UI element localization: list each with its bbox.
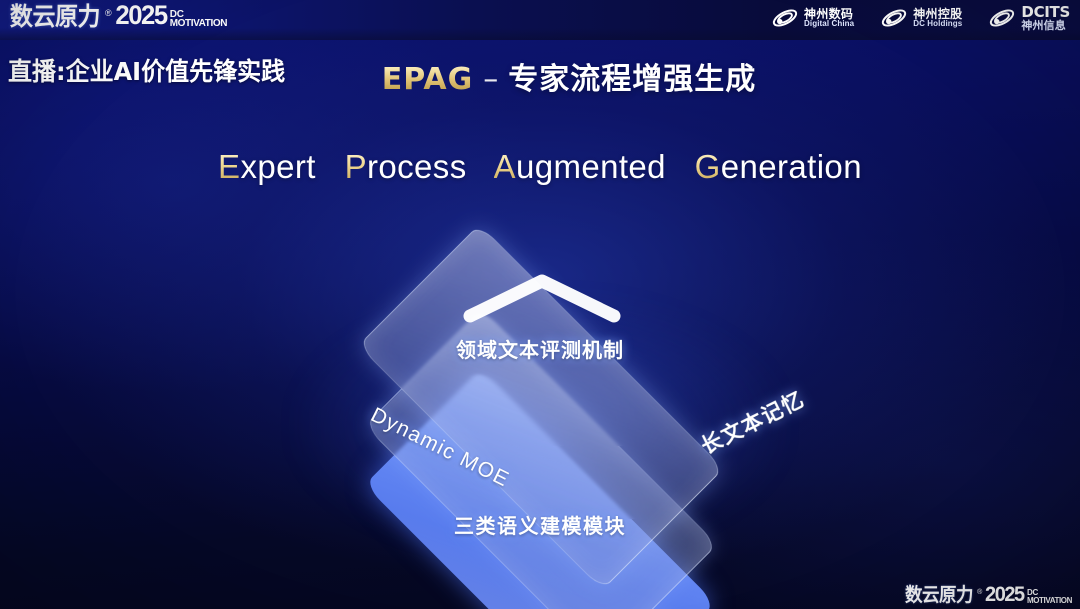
- word-remainder: xpert: [240, 148, 315, 185]
- watermark-year: 2025: [985, 584, 1024, 605]
- brand-name-cn: 数云原力: [10, 4, 100, 29]
- partner-logo-digital-china: 神州数码 Digital China: [771, 5, 854, 31]
- word-remainder: eneration: [721, 148, 862, 185]
- word-process: Process: [345, 148, 467, 185]
- swirl-icon: [771, 5, 799, 31]
- brand-logo: 数云原力 ® 2025 DC MOTIVATION: [6, 2, 227, 29]
- watermark-name-cn: 数云原力: [905, 586, 973, 605]
- brand-dc-motivation: DC MOTIVATION: [170, 10, 227, 28]
- title-chinese: 专家流程增强生成: [508, 62, 756, 97]
- live-stream-label: 直播:企业AI价值先锋实践: [8, 52, 285, 88]
- watermark-logo: 数云原力 ® 2025 DC MOTIVATION: [902, 584, 1072, 605]
- word-augmented: Augmented: [494, 148, 666, 185]
- word-remainder: rocess: [367, 148, 467, 185]
- watermark-dc-motivation: DC MOTIVATION: [1027, 589, 1072, 604]
- swirl-icon: [880, 5, 908, 31]
- initial-letter: E: [218, 148, 240, 185]
- space: [325, 148, 335, 185]
- partner-name-cn: DCITS: [1021, 5, 1070, 20]
- slide-canvas: 数云原力 ® 2025 DC MOTIVATION 直播:企业AI价值先锋实践 …: [0, 0, 1080, 609]
- word-remainder: ugmented: [516, 148, 666, 185]
- partner-logo-row: 神州数码 Digital China 神州控股 DC Holdings: [771, 5, 1070, 32]
- chevron-up-icon: [462, 272, 622, 324]
- partner-name-en: DC Holdings: [913, 20, 962, 28]
- brand-dc-line2: MOTIVATION: [170, 19, 227, 28]
- brand-year: 2025: [115, 2, 166, 29]
- initial-letter: P: [345, 148, 367, 185]
- initial-letter: G: [695, 148, 721, 185]
- title-dash: –: [483, 62, 498, 97]
- word-generation: Generation: [695, 148, 862, 185]
- word-expert: Expert: [218, 148, 316, 185]
- title-divider: [395, 122, 685, 129]
- swirl-icon: [988, 5, 1016, 31]
- watermark-dc-line2: MOTIVATION: [1027, 597, 1072, 604]
- partner-name-en: 神州信息: [1021, 20, 1070, 31]
- space: [476, 148, 486, 185]
- partner-logo-dcits: DCITS 神州信息: [988, 5, 1070, 32]
- watermark-registered-mark: ®: [977, 589, 982, 596]
- title-english: Expert Process Augmented Generation: [0, 148, 1080, 186]
- registered-mark: ®: [105, 8, 112, 18]
- space: [676, 148, 686, 185]
- stack-label-bottom: 三类语义建模模块: [0, 510, 1080, 539]
- initial-letter: A: [494, 148, 516, 185]
- partner-logo-dc-holdings: 神州控股 DC Holdings: [880, 5, 962, 31]
- partner-name-en: Digital China: [804, 20, 854, 28]
- title-acronym: EPAG: [382, 62, 474, 97]
- stack-label-top: 领域文本评测机制: [0, 334, 1080, 363]
